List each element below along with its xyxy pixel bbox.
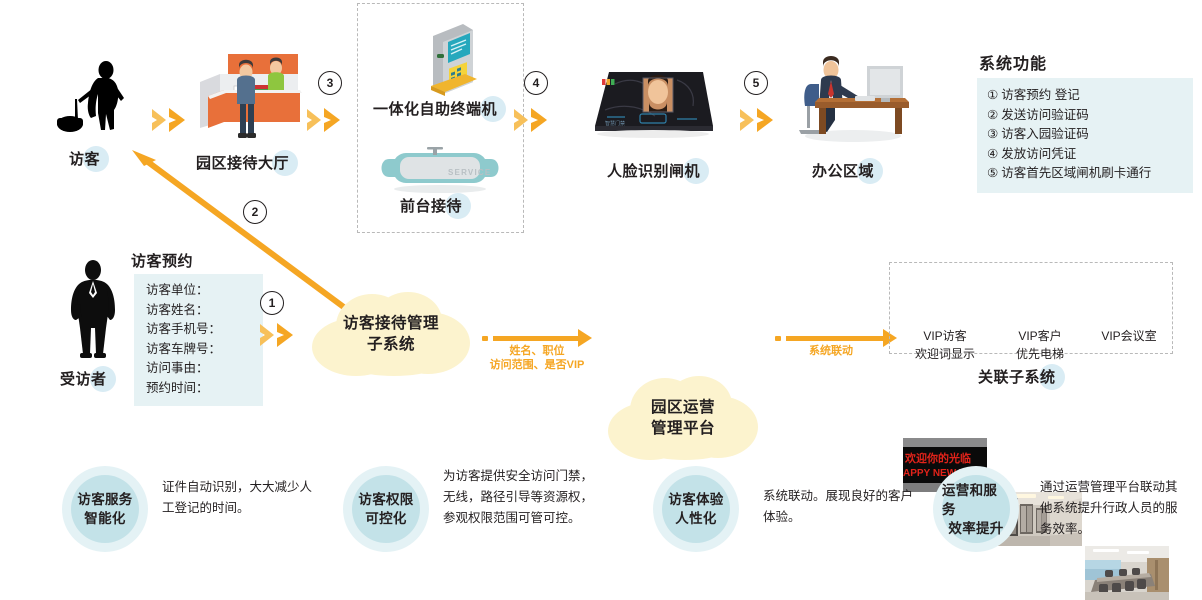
step-marker-1: 1 [260,291,284,315]
cloud-visitor-reception-subsystem: 访客接待管理 子系统 [312,292,470,376]
visitor-with-luggage-icon [48,58,158,138]
reservation-field-label: 访客手机号： [146,320,249,340]
system-function-num: ⑤ [987,164,998,184]
office-desk-icon [795,50,915,146]
system-function-num: ③ [987,125,998,145]
arrow-note-line1: 系统联动 [772,344,890,358]
reception-desk-icon [190,52,310,144]
system-function-text: 发放访问凭证 [1001,145,1076,165]
system-functions-title-text: 系统功能 [979,50,1047,74]
feature-circle-1: 访客服务 智能化 [62,466,148,552]
step-marker-3: 3 [318,71,342,95]
linked-system-caption-3: VIP会议室 [1077,327,1181,345]
feature-title-line1: 访客体验 [668,490,723,509]
caption-line2: 优先电梯 [988,345,1092,363]
arrow-line [493,336,579,341]
system-function-num: ① [987,86,998,106]
system-function-item: ⑤ 访客首先区域闸机刷卡通行 [987,164,1181,184]
node-label-front-desk: 前台接待 [400,195,462,216]
caption-line1: VIP会议室 [1077,327,1181,345]
caption-line1: VIP访客 [893,327,997,345]
feature-desc-1: 证件自动识别，大大减少人工登记的时间。 [162,477,312,519]
reservation-field-label: 访客车牌号： [146,340,249,360]
system-function-text: 访客入园验证码 [1001,125,1089,145]
feature-desc-4: 通过运营管理平台联动其他系统提升行政人员的服务效率。 [1040,477,1186,540]
arrow-note-line2: 访问范围、是否VIP [474,358,600,372]
system-functions-panel: ① 访客预约 登记 ② 发送访问验证码 ③ 访客入园验证码 ④ 发放访问凭证 ⑤… [977,78,1193,193]
system-function-item: ② 发送访问验证码 [987,106,1181,126]
svg-text:SERVICE: SERVICE [448,168,491,177]
system-function-item: ① 访客预约 登记 [987,86,1181,106]
feature-desc-3: 系统联动。展现良好的客户体验。 [763,486,913,528]
step-marker-5: 5 [744,71,768,95]
node-label-face-gate: 人脸识别闸机 [607,160,700,181]
feature-circle-4: 运营和服务 效率提升 [933,466,1019,552]
linked-system-caption-1: VIP访客 欢迎词显示 [893,327,997,363]
feature-title-line1: 访客权限 [358,490,413,509]
system-function-num: ② [987,106,998,126]
step-marker-4: 4 [524,71,548,95]
front-desk-counter-icon: SERVICE [375,147,505,195]
host-person-icon [58,258,128,360]
flow-chevron-3 [512,105,558,135]
arrow-note-line1: 姓名、职位 [474,344,600,358]
system-functions-title: 系统功能 [979,50,1047,74]
data-flow-arrow-1-note: 姓名、职位 访问范围、是否VIP [474,344,600,372]
cloud-label-line2: 子系统 [367,334,415,355]
reservation-field-label: 访客姓名： [146,301,249,321]
reservation-form-panel: 访客单位： 访客姓名： 访客手机号： 访客车牌号： 访问事由： 预约时间： [134,274,263,406]
feature-circle-3: 访客体验 人性化 [653,466,739,552]
step-marker-2: 2 [243,200,267,224]
node-label-visitor: 访客 [69,148,100,169]
step-marker-1-text: 1 [269,296,276,310]
linked-systems-title: 关联子系统 [978,366,1056,387]
system-function-text: 访客首先区域闸机刷卡通行 [1001,164,1151,184]
svg-text:智慧门禁: 智慧门禁 [605,120,625,127]
arrow-line [786,336,884,341]
node-label-host: 受访者 [60,368,107,389]
reservation-title: 访客预约 [131,250,193,271]
caption-line2: 欢迎词显示 [893,345,997,363]
arrow-dot [775,336,781,341]
cloud-visitor-reception-label: 访客接待管理 子系统 [312,292,470,376]
feature-title-line2: 智能化 [84,509,125,528]
self-service-kiosk-icon [415,20,497,102]
system-function-item: ④ 发放访问凭证 [987,145,1181,165]
system-function-num: ④ [987,145,998,165]
cloud-park-operation-platform: 园区运营 管理平台 [608,376,758,460]
system-function-item: ③ 访客入园验证码 [987,125,1181,145]
cloud-label-line1: 访客接待管理 [343,313,439,334]
system-function-text: 发送访问验证码 [1001,106,1089,126]
face-recognition-gate-icon: 智慧门禁 [585,62,720,140]
cloud-label-line1: 园区运营 [651,397,715,418]
meeting-room-icon [1085,546,1169,600]
node-label-office-area: 办公区域 [812,160,874,181]
system-function-text: 访客预约 登记 [1001,86,1079,106]
cloud-park-operation-label: 园区运营 管理平台 [608,376,758,460]
node-label-reception-hall: 园区接待大厅 [196,152,289,173]
reservation-field-label: 预约时间： [146,379,249,399]
feature-title-line2: 效率提升 [948,519,1003,538]
reservation-field-label: 访客单位： [146,281,249,301]
flow-chevron-2 [305,105,351,135]
reservation-field-label: 访问事由： [146,359,249,379]
step-marker-5-text: 5 [753,76,760,90]
led-line1: 欢迎你的光临 [904,451,971,465]
flow-chevron-5 [258,320,304,350]
feature-title-line2: 人性化 [675,509,716,528]
reservation-title-text: 访客预约 [131,250,193,271]
arrow-dot [482,336,488,341]
step-marker-2-text: 2 [252,205,259,219]
feature-desc-2: 为访客提供安全访问门禁，无线，路径引导等资源权，参观权限范围可管可控。 [443,466,593,529]
data-flow-arrow-2-note: 系统联动 [772,344,890,358]
feature-title-line1: 运营和服务 [942,481,1010,519]
cloud-label-line2: 管理平台 [651,418,715,439]
node-label-kiosk: 一体化自助终端机 [373,98,497,119]
feature-title-line1: 访客服务 [77,490,132,509]
feature-title-line2: 可控化 [365,509,406,528]
flow-chevron-4 [738,105,784,135]
step-marker-3-text: 3 [327,76,334,90]
step-marker-4-text: 4 [533,76,540,90]
feature-circle-2: 访客权限 可控化 [343,466,429,552]
